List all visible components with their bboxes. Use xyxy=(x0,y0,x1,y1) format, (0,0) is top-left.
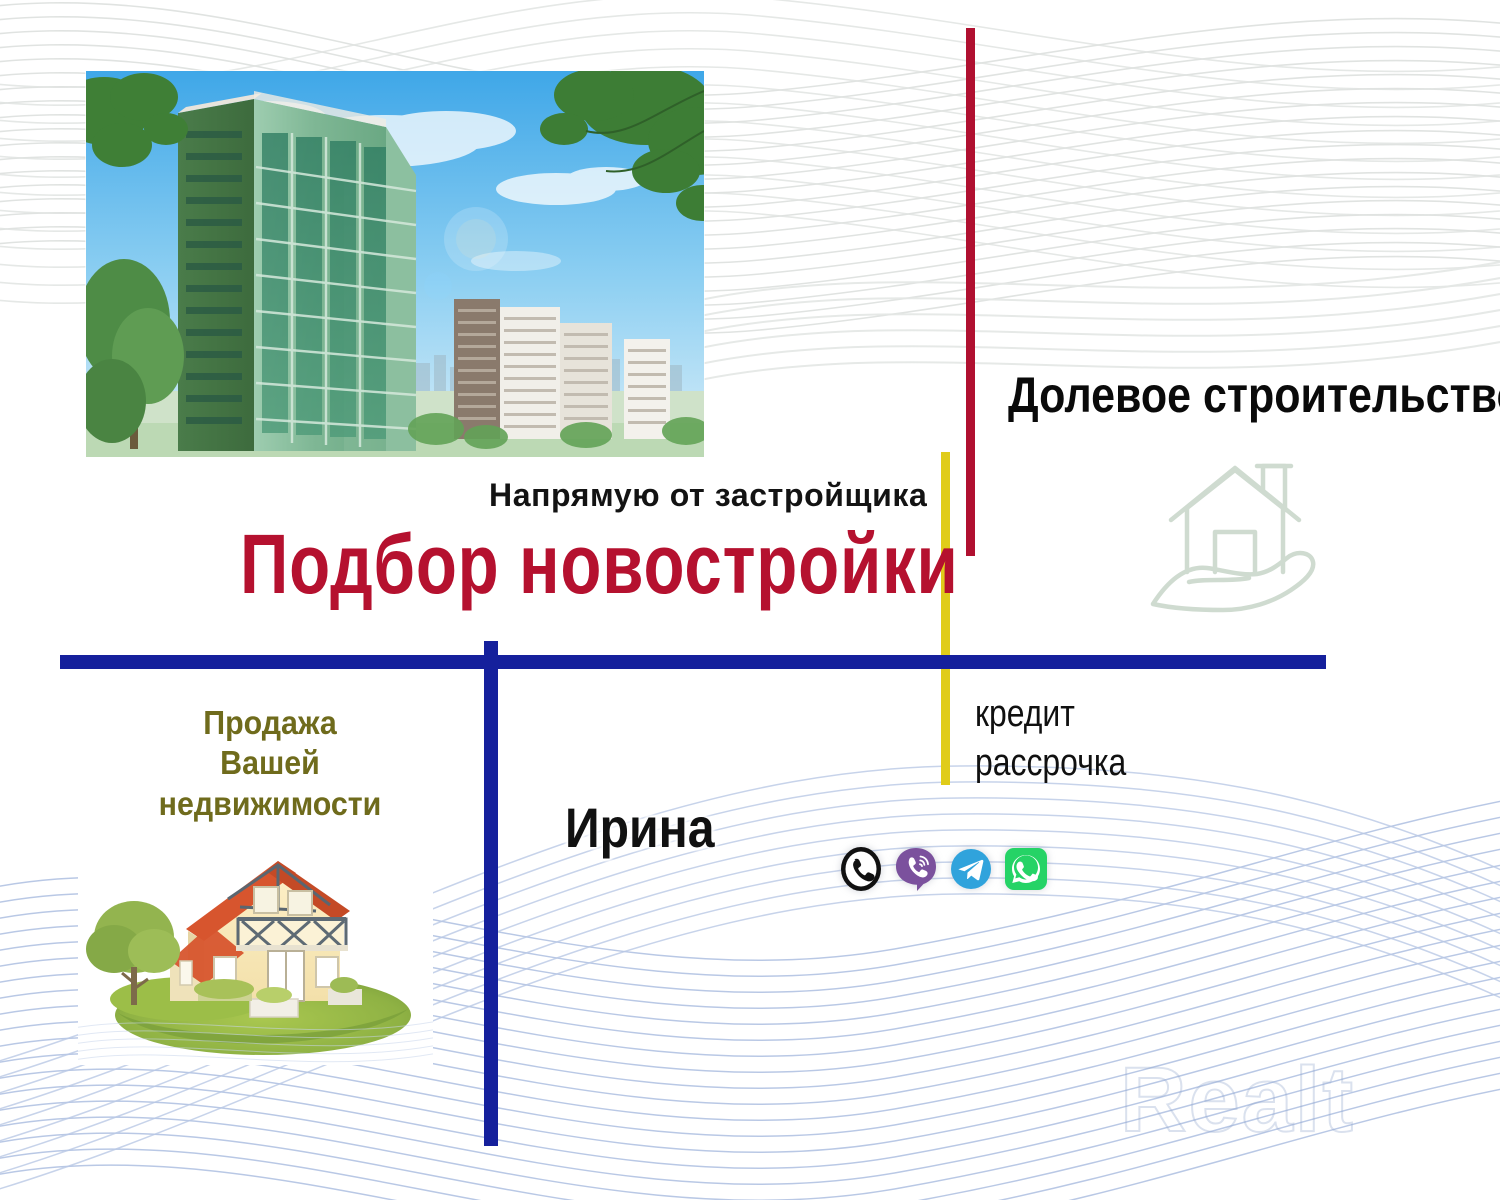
subtitle-direct-from-developer: Напрямую от застройщика xyxy=(489,477,927,514)
phone-glyph xyxy=(838,846,884,892)
hand-house-lineart xyxy=(1145,448,1325,616)
agent-name: Ирина xyxy=(565,795,715,860)
viber-glyph xyxy=(893,846,939,892)
accent-line-yellow-vertical xyxy=(941,452,950,785)
realt-watermark: Realt xyxy=(1120,1048,1355,1153)
hand-holding-house-icon xyxy=(1145,448,1325,616)
new-buildings-photo xyxy=(86,71,704,457)
accent-line-blue-vertical xyxy=(484,641,498,1146)
financing-line-credit: кредит xyxy=(975,690,1126,739)
sell-line-2: недвижимости xyxy=(155,784,385,824)
accent-line-blue-horizontal xyxy=(60,655,1326,669)
whatsapp-icon[interactable] xyxy=(1003,846,1049,892)
towers-illustration xyxy=(86,71,704,457)
sell-your-property-text: Продажа Вашей недвижимости xyxy=(155,703,385,824)
financing-options-text: кредит рассрочка xyxy=(975,690,1126,787)
contact-icons-group[interactable] xyxy=(838,846,1049,892)
cottage-house-photo xyxy=(78,833,433,1065)
accent-line-red-vertical xyxy=(966,28,975,556)
shared-construction-heading: Долевое строительство xyxy=(1008,366,1500,424)
sell-line-1: Продажа Вашей xyxy=(155,703,385,784)
cottage-illustration xyxy=(78,833,433,1065)
financing-line-instalment: рассрочка xyxy=(975,739,1126,788)
phone-icon[interactable] xyxy=(838,846,884,892)
viber-icon[interactable] xyxy=(893,846,939,892)
page-title: Подбор новостройки xyxy=(240,516,959,613)
whatsapp-glyph xyxy=(1003,846,1049,892)
telegram-glyph xyxy=(948,846,994,892)
poster-canvas: Realt xyxy=(0,0,1500,1200)
telegram-icon[interactable] xyxy=(948,846,994,892)
